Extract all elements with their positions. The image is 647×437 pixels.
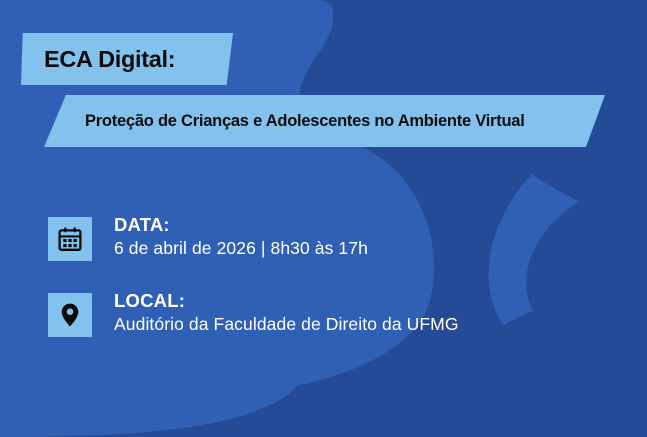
location-pin-icon — [57, 302, 83, 328]
event-poster: ECA Digital: Proteção de Crianças e Adol… — [0, 0, 647, 437]
title-banner-secondary: Proteção de Crianças e Adolescentes no A… — [44, 95, 605, 147]
page-title: ECA Digital: — [44, 46, 175, 73]
location-icon-tile — [48, 293, 92, 337]
detail-row-date: DATA: 6 de abril de 2026 | 8h30 às 17h — [48, 213, 459, 261]
page-subtitle: Proteção de Crianças e Adolescentes no A… — [85, 112, 525, 131]
date-value: 6 de abril de 2026 | 8h30 às 17h — [114, 236, 368, 261]
detail-text-date: DATA: 6 de abril de 2026 | 8h30 às 17h — [114, 213, 368, 261]
detail-text-location: LOCAL: Auditório da Faculdade de Direito… — [114, 289, 459, 337]
location-value: Auditório da Faculdade de Direito da UFM… — [114, 312, 459, 337]
detail-row-location: LOCAL: Auditório da Faculdade de Direito… — [48, 289, 459, 337]
calendar-icon-tile — [48, 217, 92, 261]
calendar-icon — [57, 226, 83, 252]
event-details: DATA: 6 de abril de 2026 | 8h30 às 17h L… — [48, 213, 459, 337]
location-label: LOCAL: — [114, 290, 459, 312]
title-banner-primary: ECA Digital: — [21, 33, 233, 85]
date-label: DATA: — [114, 214, 368, 236]
